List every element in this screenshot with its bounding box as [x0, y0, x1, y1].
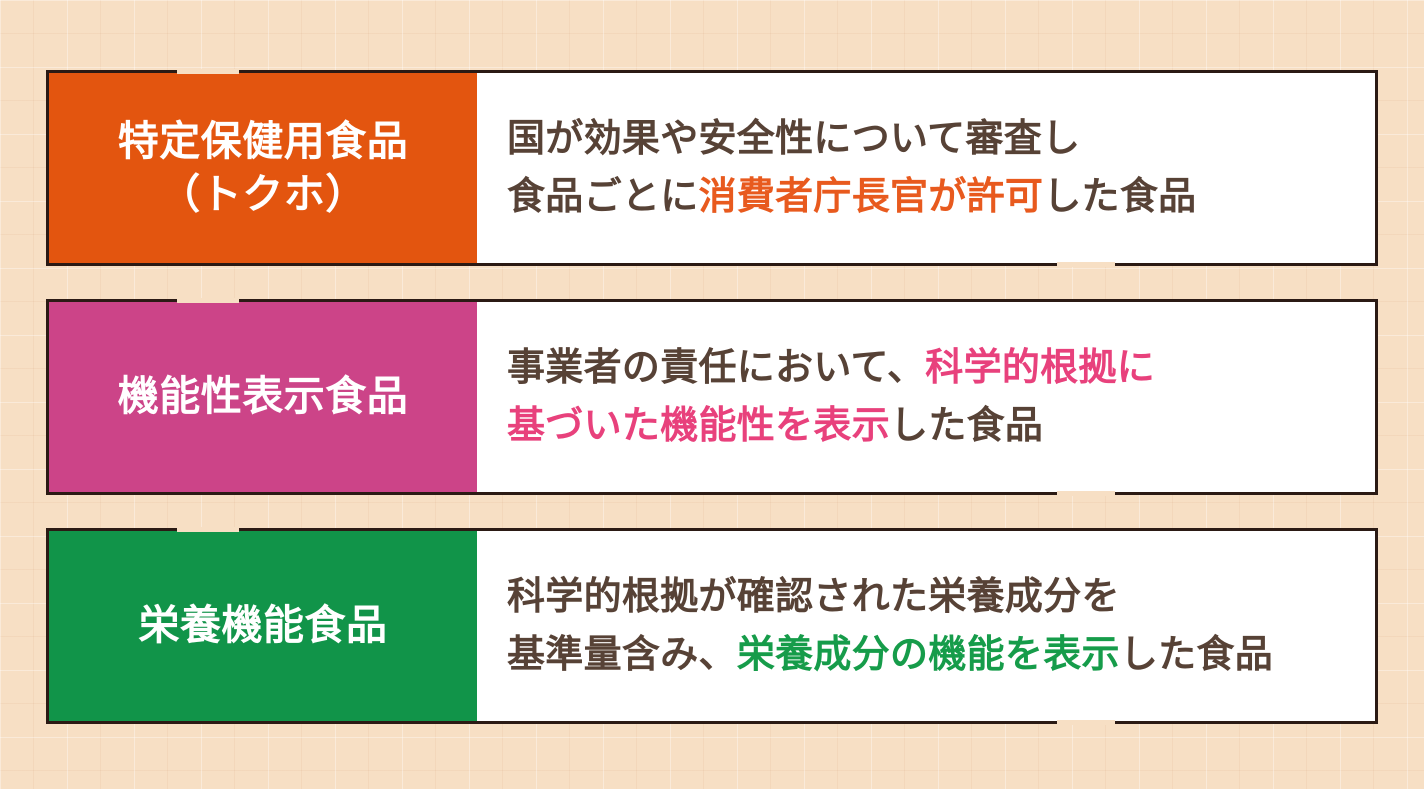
text-highlight: 科学的根拠に	[925, 345, 1155, 389]
category-description-kinousei: 事業者の責任において、科学的根拠に 基づいた機能性を表示した食品	[477, 302, 1375, 492]
description-line-1: 国が効果や安全性について審査し	[507, 110, 1375, 168]
text-plain-before: 基準量含み、	[507, 632, 737, 676]
text-plain-before: 事業者の責任において、	[507, 345, 925, 389]
category-label-eiyou: 栄養機能食品	[49, 531, 477, 721]
text-plain-before: 食品ごとに	[507, 174, 699, 218]
description-line-2: 食品ごとに消費者庁長官が許可した食品	[507, 168, 1375, 226]
description-line-1: 科学的根拠が確認された栄養成分を	[507, 568, 1375, 626]
text-plain-before: 国が効果や安全性について審査し	[507, 116, 1080, 160]
text-highlight: 栄養成分の機能を表示	[737, 632, 1120, 676]
table-row: 特定保健用食品 （トクホ） 国が効果や安全性について審査し 食品ごとに消費者庁長…	[46, 70, 1378, 266]
description-line-2: 基づいた機能性を表示した食品	[507, 397, 1375, 455]
text-highlight: 消費者庁長官が許可	[699, 174, 1044, 218]
text-plain-after: した食品	[890, 403, 1043, 447]
table-row: 栄養機能食品 科学的根拠が確認された栄養成分を 基準量含み、栄養成分の機能を表示…	[46, 528, 1378, 724]
category-description-tokuho: 国が効果や安全性について審査し 食品ごとに消費者庁長官が許可した食品	[477, 73, 1375, 263]
category-label-kinousei: 機能性表示食品	[49, 302, 477, 492]
table-row: 機能性表示食品 事業者の責任において、科学的根拠に 基づいた機能性を表示した食品	[46, 299, 1378, 495]
text-plain-after: した食品	[1043, 174, 1196, 218]
text-plain-before: 科学的根拠が確認された栄養成分を	[507, 574, 1120, 618]
text-highlight: 基づいた機能性を表示	[507, 403, 890, 447]
category-label-tokuho: 特定保健用食品 （トクホ）	[49, 73, 477, 263]
description-line-1: 事業者の責任において、科学的根拠に	[507, 339, 1375, 397]
category-label-text: 特定保健用食品 （トクホ）	[118, 115, 409, 222]
category-description-eiyou: 科学的根拠が確認された栄養成分を 基準量含み、栄養成分の機能を表示した食品	[477, 531, 1375, 721]
text-plain-after: した食品	[1120, 632, 1273, 676]
food-classification-table: 特定保健用食品 （トクホ） 国が効果や安全性について審査し 食品ごとに消費者庁長…	[46, 70, 1378, 757]
description-line-2: 基準量含み、栄養成分の機能を表示した食品	[507, 626, 1375, 684]
category-label-text: 栄養機能食品	[139, 599, 388, 652]
category-label-text: 機能性表示食品	[118, 370, 409, 423]
